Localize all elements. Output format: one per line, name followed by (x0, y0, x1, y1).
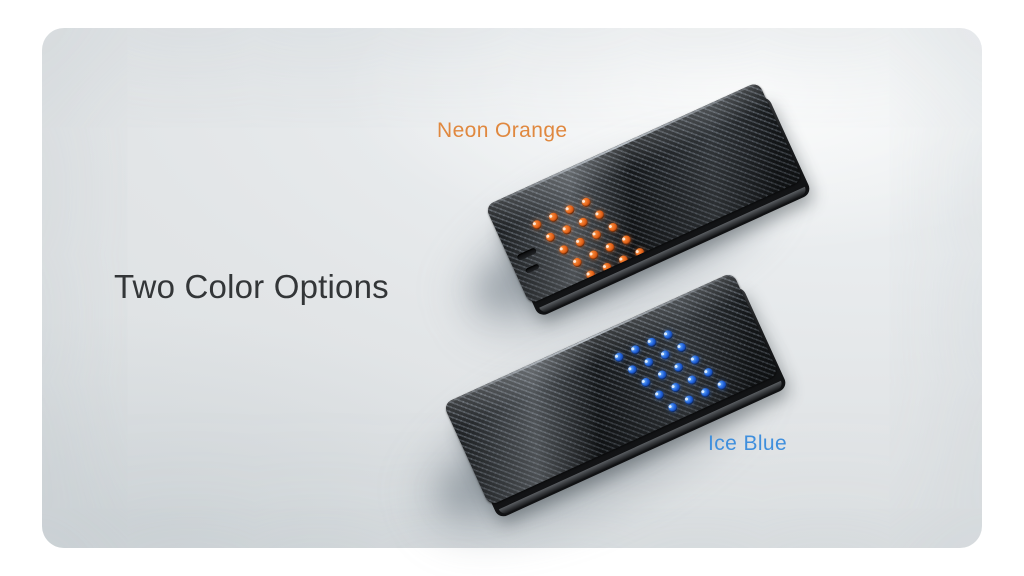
led-dot (656, 369, 668, 381)
led-dot (640, 377, 652, 389)
led-dot (544, 232, 556, 244)
led-dot (642, 357, 654, 369)
led-dot (699, 387, 711, 399)
led-dot (571, 257, 583, 269)
product-comparison-scene: Two Color Options Neon Orange Ice Blue (0, 0, 1024, 576)
led-dot (547, 212, 559, 224)
led-dot (672, 362, 684, 374)
led-dot (607, 222, 619, 234)
led-dot (629, 344, 641, 356)
label-ice-blue: Ice Blue (708, 432, 787, 456)
led-dot (689, 354, 701, 366)
led-dot (626, 364, 638, 376)
led-dot (715, 379, 727, 391)
led-dot (683, 394, 695, 406)
led-dot (577, 217, 589, 229)
led-dot (557, 244, 569, 256)
led-dot (662, 329, 674, 341)
led-dot (675, 342, 687, 354)
label-neon-orange: Neon Orange (437, 119, 567, 143)
led-dot (604, 242, 616, 254)
led-dot (563, 204, 575, 216)
led-dot (590, 229, 602, 241)
led-dot (560, 224, 572, 236)
led-dot (666, 402, 678, 414)
page-title: Two Color Options (114, 268, 389, 306)
led-dot (702, 367, 714, 379)
led-dot (574, 237, 586, 249)
led-dot (669, 382, 681, 394)
led-dot (580, 197, 592, 209)
led-dot (645, 337, 657, 349)
led-dot (531, 219, 543, 231)
led-dot (686, 374, 698, 386)
led-dot (659, 349, 671, 361)
led-dot (593, 209, 605, 221)
led-dot (587, 249, 599, 261)
led-dot (653, 389, 665, 401)
led-dot (613, 352, 625, 364)
led-dot (620, 234, 632, 246)
